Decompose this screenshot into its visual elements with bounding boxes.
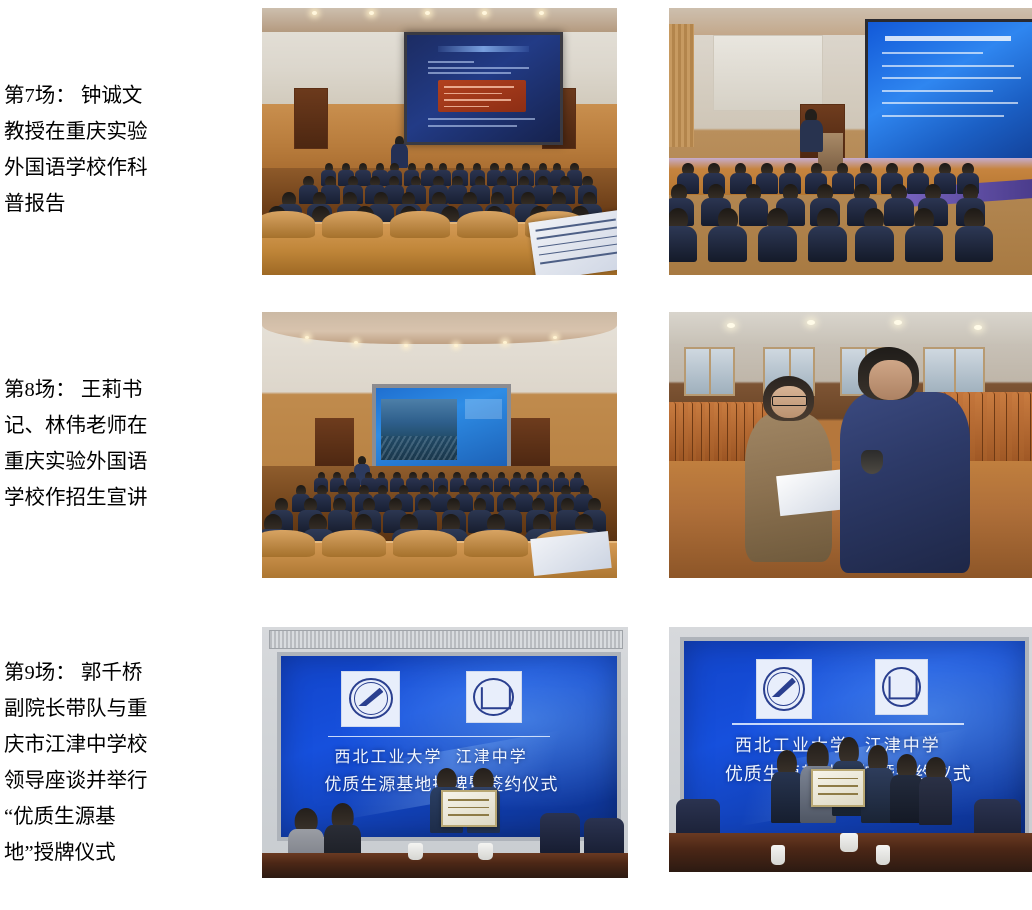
audience-body xyxy=(515,494,533,512)
photo-event-9-right: 西北工业大学 江津中学 优质生源基地授牌暨签约仪式 xyxy=(669,627,1032,872)
air-vent xyxy=(269,630,622,650)
jiangjin-school-logo-icon xyxy=(466,671,522,724)
led-org-right: 江津中学 xyxy=(456,743,528,767)
caption-line: 学校作招生宣讲 xyxy=(4,480,218,516)
award-plaque xyxy=(811,769,866,807)
photo-event-9-left: 西北工业大学 江津中学 优质生源基地授牌暨签约仪式 xyxy=(262,627,628,878)
caption-line: 外国语学校作科 xyxy=(4,150,218,186)
audience-body xyxy=(669,226,697,262)
photo-event-8-right xyxy=(669,312,1032,578)
photo-event-7-left xyxy=(262,8,617,275)
audience-body xyxy=(905,226,944,262)
photo-event-8-left xyxy=(262,312,617,578)
photo-event-7-right xyxy=(669,8,1032,275)
caption-event-8: 第8场： 王莉书 记、林伟老师在 重庆实验外国语 学校作招生宣讲 xyxy=(4,372,218,516)
led-org-left: 西北工业大学 xyxy=(335,743,443,767)
jiangjin-school-logo-icon xyxy=(875,659,928,715)
caption-line: 庆市江津中学校 xyxy=(4,727,218,763)
audience-body xyxy=(758,226,797,262)
nwpu-logo-icon xyxy=(341,671,400,727)
audience-body xyxy=(533,185,553,204)
caption-line: 地”授牌仪式 xyxy=(4,835,218,871)
caption-line: 领导座谈并举行 xyxy=(4,763,218,799)
nwpu-logo-icon xyxy=(756,659,813,719)
article-image-gallery: 第7场： 钟诚文 教授在重庆实验 外国语学校作科 普报告 xyxy=(0,0,1032,910)
caption-event-7: 第7场： 钟诚文 教授在重庆实验 外国语学校作科 普报告 xyxy=(4,78,218,222)
caption-line: 教授在重庆实验 xyxy=(4,114,218,150)
audience-body xyxy=(855,226,894,262)
award-plaque xyxy=(441,790,496,827)
caption-line: “优质生源基 xyxy=(4,799,218,835)
caption-line: 记、林伟老师在 xyxy=(4,408,218,444)
presentation-screen xyxy=(865,19,1032,164)
presentation-screen xyxy=(404,32,563,145)
caption-event-9: 第9场： 郭千桥 副院长带队与重 庆市江津中学校 领导座谈并举行 “优质生源基 … xyxy=(4,655,218,871)
caption-line: 第8场： 王莉书 xyxy=(4,372,218,408)
audience-body xyxy=(808,226,847,262)
person-teacher-male xyxy=(840,392,971,573)
glasses-icon xyxy=(772,396,807,406)
audience-body xyxy=(955,226,994,262)
audience-body xyxy=(739,198,769,226)
audience-body xyxy=(708,226,747,262)
caption-line: 重庆实验外国语 xyxy=(4,444,218,480)
caption-line: 普报告 xyxy=(4,186,218,222)
audience-body xyxy=(832,173,854,194)
caption-line: 副院长带队与重 xyxy=(4,691,218,727)
caption-line: 第9场： 郭千桥 xyxy=(4,655,218,691)
audience-body xyxy=(884,198,914,226)
caption-line: 第7场： 钟诚文 xyxy=(4,78,218,114)
